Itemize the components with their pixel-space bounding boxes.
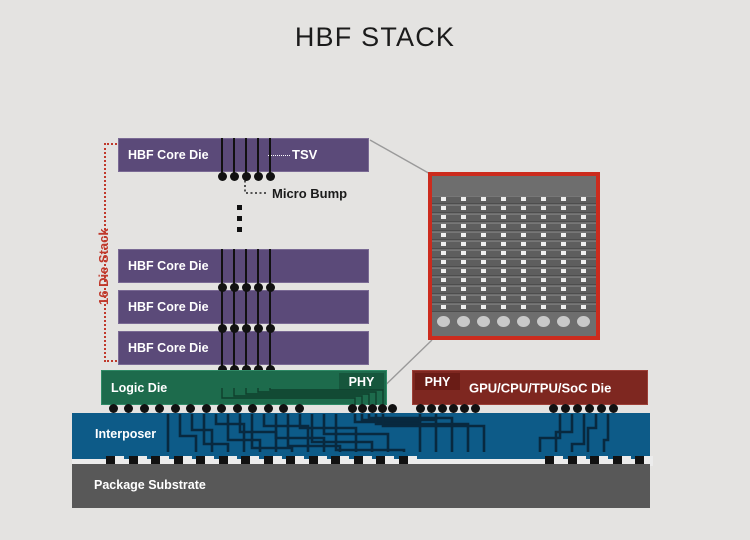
callout-micro-bump bbox=[481, 278, 486, 282]
logic-die-label: Logic Die bbox=[111, 381, 167, 395]
soc-die-label: GPU/CPU/TPU/SoC Die bbox=[469, 380, 611, 395]
micro-bump bbox=[109, 404, 118, 413]
callout-micro-bump bbox=[541, 206, 546, 210]
callout-micro-bump bbox=[521, 296, 526, 300]
tsv-column bbox=[257, 138, 260, 176]
tsv-column bbox=[245, 138, 248, 176]
callout-micro-bump bbox=[481, 233, 486, 237]
tsv-column bbox=[269, 290, 272, 328]
callout-micro-bump bbox=[461, 296, 466, 300]
callout-micro-bump bbox=[461, 242, 466, 246]
callout-micro-bump bbox=[461, 233, 466, 237]
micro-bump bbox=[248, 404, 257, 413]
callout-micro-bump bbox=[461, 206, 466, 210]
callout-micro-bump bbox=[541, 278, 546, 282]
micro-bump bbox=[171, 404, 180, 413]
tsv-column bbox=[233, 138, 236, 176]
micro-bump bbox=[549, 404, 558, 413]
callout-die-row bbox=[432, 223, 596, 231]
page-title: HBF STACK bbox=[0, 22, 750, 53]
callout-micro-bump bbox=[561, 278, 566, 282]
callout-micro-bump bbox=[461, 287, 466, 291]
micro-bump bbox=[254, 172, 263, 181]
callout-die-row bbox=[432, 214, 596, 222]
callout-micro-bump bbox=[501, 269, 506, 273]
callout-micro-bump bbox=[481, 296, 486, 300]
magnified-stack-callout bbox=[428, 172, 600, 340]
callout-die-row bbox=[432, 286, 596, 294]
micro-bump bbox=[279, 404, 288, 413]
callout-micro-bump bbox=[461, 269, 466, 273]
callout-solder-bump bbox=[537, 316, 550, 327]
callout-micro-bump bbox=[481, 215, 486, 219]
callout-micro-bump bbox=[541, 242, 546, 246]
micro-bump bbox=[186, 404, 195, 413]
callout-micro-bump bbox=[581, 242, 586, 246]
callout-micro-bump bbox=[461, 278, 466, 282]
callout-die-row bbox=[432, 277, 596, 285]
callout-micro-bump bbox=[441, 278, 446, 282]
micro-bump bbox=[218, 172, 227, 181]
callout-solder-bump bbox=[577, 316, 590, 327]
callout-die-row bbox=[432, 259, 596, 267]
callout-micro-bump bbox=[501, 197, 506, 201]
callout-micro-bump bbox=[521, 206, 526, 210]
callout-micro-bump bbox=[561, 197, 566, 201]
callout-micro-bump bbox=[441, 242, 446, 246]
hbf-core-die-2: HBF Core Die bbox=[118, 290, 369, 324]
callout-micro-bump bbox=[561, 224, 566, 228]
hbf-core-die-label: HBF Core Die bbox=[128, 148, 209, 162]
package-substrate-label: Package Substrate bbox=[94, 478, 206, 492]
callout-micro-bump bbox=[521, 260, 526, 264]
callout-solder-bump bbox=[517, 316, 530, 327]
tsv-column bbox=[221, 138, 224, 176]
callout-micro-bump bbox=[581, 224, 586, 228]
callout-micro-bump bbox=[561, 233, 566, 237]
callout-micro-bump bbox=[541, 287, 546, 291]
callout-micro-bump bbox=[501, 260, 506, 264]
micro-bump bbox=[124, 404, 133, 413]
callout-micro-bump bbox=[581, 278, 586, 282]
callout-micro-bump bbox=[581, 269, 586, 273]
callout-micro-bump bbox=[481, 224, 486, 228]
hbf-core-die-1: HBF Core Die bbox=[118, 249, 369, 283]
callout-micro-bump bbox=[541, 269, 546, 273]
callout-micro-bump bbox=[521, 233, 526, 237]
callout-micro-bump bbox=[441, 296, 446, 300]
callout-micro-bump bbox=[481, 260, 486, 264]
callout-die-row bbox=[432, 295, 596, 303]
callout-micro-bump bbox=[581, 260, 586, 264]
tsv-column bbox=[221, 249, 224, 287]
micro-bump bbox=[217, 404, 226, 413]
micro-bump bbox=[561, 404, 570, 413]
callout-micro-bump bbox=[521, 197, 526, 201]
callout-die-row bbox=[432, 250, 596, 258]
callout-micro-bump bbox=[581, 296, 586, 300]
callout-micro-bump bbox=[581, 305, 586, 309]
callout-solder-bump bbox=[497, 316, 510, 327]
logic-die-phy-block: PHY bbox=[339, 373, 384, 390]
callout-micro-bump bbox=[461, 224, 466, 228]
callout-micro-bump bbox=[541, 224, 546, 228]
callout-micro-bump bbox=[501, 251, 506, 255]
callout-micro-bump bbox=[581, 215, 586, 219]
callout-micro-bump bbox=[481, 287, 486, 291]
tsv-column bbox=[269, 138, 272, 176]
callout-die-row bbox=[432, 304, 596, 312]
tsv-column bbox=[257, 249, 260, 287]
hbf-core-die-3: HBF Core Die bbox=[118, 331, 369, 365]
callout-micro-bump bbox=[481, 206, 486, 210]
callout-micro-bump bbox=[541, 197, 546, 201]
callout-micro-bump bbox=[461, 215, 466, 219]
callout-micro-bump bbox=[561, 215, 566, 219]
micro-bump bbox=[416, 404, 425, 413]
callout-solder-bump bbox=[437, 316, 450, 327]
callout-micro-bump bbox=[481, 251, 486, 255]
callout-micro-bump bbox=[561, 296, 566, 300]
callout-micro-bump bbox=[441, 251, 446, 255]
tsv-column bbox=[269, 331, 272, 369]
callout-micro-bump bbox=[561, 251, 566, 255]
callout-micro-bump bbox=[561, 305, 566, 309]
callout-micro-bump bbox=[501, 215, 506, 219]
callout-micro-bump bbox=[441, 233, 446, 237]
callout-micro-bump bbox=[501, 224, 506, 228]
micro-bump bbox=[388, 404, 397, 413]
micro-bump bbox=[230, 172, 239, 181]
callout-micro-bump bbox=[561, 260, 566, 264]
callout-micro-bump bbox=[441, 260, 446, 264]
callout-micro-bump bbox=[461, 197, 466, 201]
tsv-column bbox=[233, 331, 236, 369]
callout-micro-bump bbox=[561, 269, 566, 273]
callout-micro-bump bbox=[521, 251, 526, 255]
callout-die-row bbox=[432, 196, 596, 204]
package-substrate: Package Substrate bbox=[72, 464, 650, 508]
callout-micro-bump bbox=[561, 242, 566, 246]
micro-bump bbox=[585, 404, 594, 413]
callout-solder-bump bbox=[557, 316, 570, 327]
micro-bump bbox=[358, 404, 367, 413]
interposer-label: Interposer bbox=[95, 427, 156, 441]
callout-micro-bump bbox=[461, 260, 466, 264]
callout-micro-bump bbox=[561, 287, 566, 291]
callout-die-row bbox=[432, 205, 596, 213]
callout-micro-bump bbox=[581, 287, 586, 291]
tsv-column bbox=[221, 331, 224, 369]
micro-bump-label: Micro Bump bbox=[272, 186, 347, 201]
tsv-column bbox=[233, 290, 236, 328]
micro-bump bbox=[438, 404, 447, 413]
tsv-column bbox=[221, 290, 224, 328]
micro-bump bbox=[597, 404, 606, 413]
tsv-column bbox=[245, 290, 248, 328]
callout-micro-bump bbox=[521, 278, 526, 282]
callout-micro-bump bbox=[541, 305, 546, 309]
callout-micro-bump bbox=[541, 215, 546, 219]
micro-bump bbox=[573, 404, 582, 413]
callout-micro-bump bbox=[461, 305, 466, 309]
callout-micro-bump bbox=[441, 197, 446, 201]
micro-bump bbox=[368, 404, 377, 413]
micro-bump bbox=[140, 404, 149, 413]
callout-micro-bump bbox=[481, 197, 486, 201]
micro-bump bbox=[378, 404, 387, 413]
callout-solder-bump bbox=[477, 316, 490, 327]
interposer: Interposer bbox=[72, 413, 650, 459]
hbf-core-die-label: HBF Core Die bbox=[128, 259, 209, 273]
callout-micro-bump bbox=[481, 242, 486, 246]
micro-bump bbox=[295, 404, 304, 413]
micro-bump bbox=[266, 172, 275, 181]
micro-bump bbox=[348, 404, 357, 413]
tsv-column bbox=[245, 331, 248, 369]
tsv-leader-line bbox=[268, 155, 290, 156]
callout-micro-bump bbox=[521, 242, 526, 246]
callout-die-row bbox=[432, 232, 596, 240]
callout-micro-bump bbox=[501, 296, 506, 300]
diagram-canvas: HBF STACK 16 Die Stack HBF Core Die TSV … bbox=[0, 0, 750, 540]
logic-die: Logic Die PHY bbox=[101, 370, 387, 405]
hbf-core-die-top: HBF Core Die bbox=[118, 138, 369, 172]
tsv-column bbox=[245, 249, 248, 287]
callout-micro-bump bbox=[481, 305, 486, 309]
soc-die-phy-block: PHY bbox=[415, 373, 460, 390]
callout-micro-bump bbox=[461, 251, 466, 255]
callout-micro-bump bbox=[501, 233, 506, 237]
callout-micro-bump bbox=[501, 206, 506, 210]
callout-micro-bump bbox=[541, 260, 546, 264]
callout-micro-bump bbox=[521, 269, 526, 273]
callout-micro-bump bbox=[441, 287, 446, 291]
micro-bump bbox=[242, 172, 251, 181]
callout-micro-bump bbox=[501, 287, 506, 291]
callout-micro-bump bbox=[541, 233, 546, 237]
callout-micro-bump bbox=[441, 305, 446, 309]
callout-contents bbox=[432, 176, 596, 336]
micro-bump bbox=[427, 404, 436, 413]
micro-bump bbox=[233, 404, 242, 413]
callout-micro-bump bbox=[521, 305, 526, 309]
tsv-column bbox=[269, 249, 272, 287]
callout-micro-bump bbox=[441, 224, 446, 228]
micro-bump bbox=[471, 404, 480, 413]
soc-die: GPU/CPU/TPU/SoC Die PHY bbox=[412, 370, 648, 405]
hbf-core-die-label: HBF Core Die bbox=[128, 341, 209, 355]
callout-micro-bump bbox=[581, 206, 586, 210]
hbf-core-die-label: HBF Core Die bbox=[128, 300, 209, 314]
micro-bump bbox=[609, 404, 618, 413]
micro-bump bbox=[155, 404, 164, 413]
micro-bump bbox=[460, 404, 469, 413]
callout-micro-bump bbox=[541, 296, 546, 300]
micro-bump bbox=[202, 404, 211, 413]
callout-micro-bump bbox=[501, 278, 506, 282]
tsv-column bbox=[257, 290, 260, 328]
callout-die-row bbox=[432, 241, 596, 249]
micro-bump bbox=[264, 404, 273, 413]
callout-micro-bump bbox=[581, 197, 586, 201]
callout-micro-bump bbox=[561, 206, 566, 210]
callout-die-row bbox=[432, 268, 596, 276]
callout-solder-bump bbox=[457, 316, 470, 327]
callout-micro-bump bbox=[441, 206, 446, 210]
tsv-column bbox=[233, 249, 236, 287]
callout-micro-bump bbox=[521, 215, 526, 219]
callout-micro-bump bbox=[521, 287, 526, 291]
micro-bump bbox=[449, 404, 458, 413]
die-stack-count-label: 16 Die Stack bbox=[96, 228, 111, 305]
callout-micro-bump bbox=[481, 269, 486, 273]
tsv-column bbox=[257, 331, 260, 369]
callout-micro-bump bbox=[541, 251, 546, 255]
callout-micro-bump bbox=[441, 269, 446, 273]
callout-micro-bump bbox=[521, 224, 526, 228]
tsv-label: TSV bbox=[292, 147, 317, 162]
callout-micro-bump bbox=[441, 215, 446, 219]
callout-micro-bump bbox=[501, 242, 506, 246]
callout-micro-bump bbox=[581, 251, 586, 255]
callout-micro-bump bbox=[581, 233, 586, 237]
callout-micro-bump bbox=[501, 305, 506, 309]
